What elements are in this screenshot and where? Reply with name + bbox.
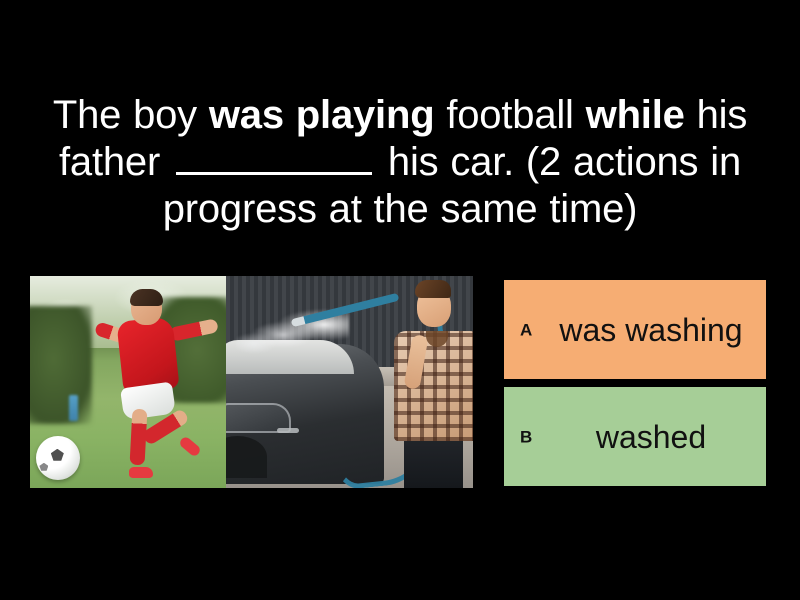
boy-white-shorts [120,381,176,420]
man-trousers [404,433,463,488]
question-line-1: The boy was playing football while [53,93,697,137]
question-segment-bold-was-playing: was playing [209,93,435,137]
answer-text-a: was washing [504,312,766,348]
boy-hair [130,289,163,306]
answer-blank [176,139,372,175]
answer-text-b: washed [504,419,766,455]
answer-option-a[interactable]: A was washing [504,280,766,379]
answer-letter-a: A [520,321,532,338]
answer-letter-b: B [520,428,532,445]
question-segment-plain: The boy [53,93,209,137]
car-door-handle [277,428,299,433]
answer-option-b[interactable]: B washed [504,387,766,486]
boy-arm-right [169,318,219,342]
boy-boot-left [129,467,153,478]
question-text: The boy was playing football while his f… [18,92,782,233]
question-segment-plain-football: football [434,93,585,137]
bush-left [30,306,92,425]
car-wheel-arch [226,436,267,478]
media-panel [30,276,473,488]
boy-red-jersey [116,316,179,393]
quiz-slide: The boy was playing football while his f… [0,0,800,600]
football-ball [36,436,80,480]
man-washing-car-photo [226,276,473,488]
boy-figure [108,291,222,482]
boy-boot-right [178,435,202,458]
boy-playing-football-photo [30,276,226,488]
answer-options: A was washing B washed [504,280,766,486]
man-hair [415,280,451,298]
question-segment-bold-while: while [586,93,685,137]
pitch-marker [69,395,78,421]
